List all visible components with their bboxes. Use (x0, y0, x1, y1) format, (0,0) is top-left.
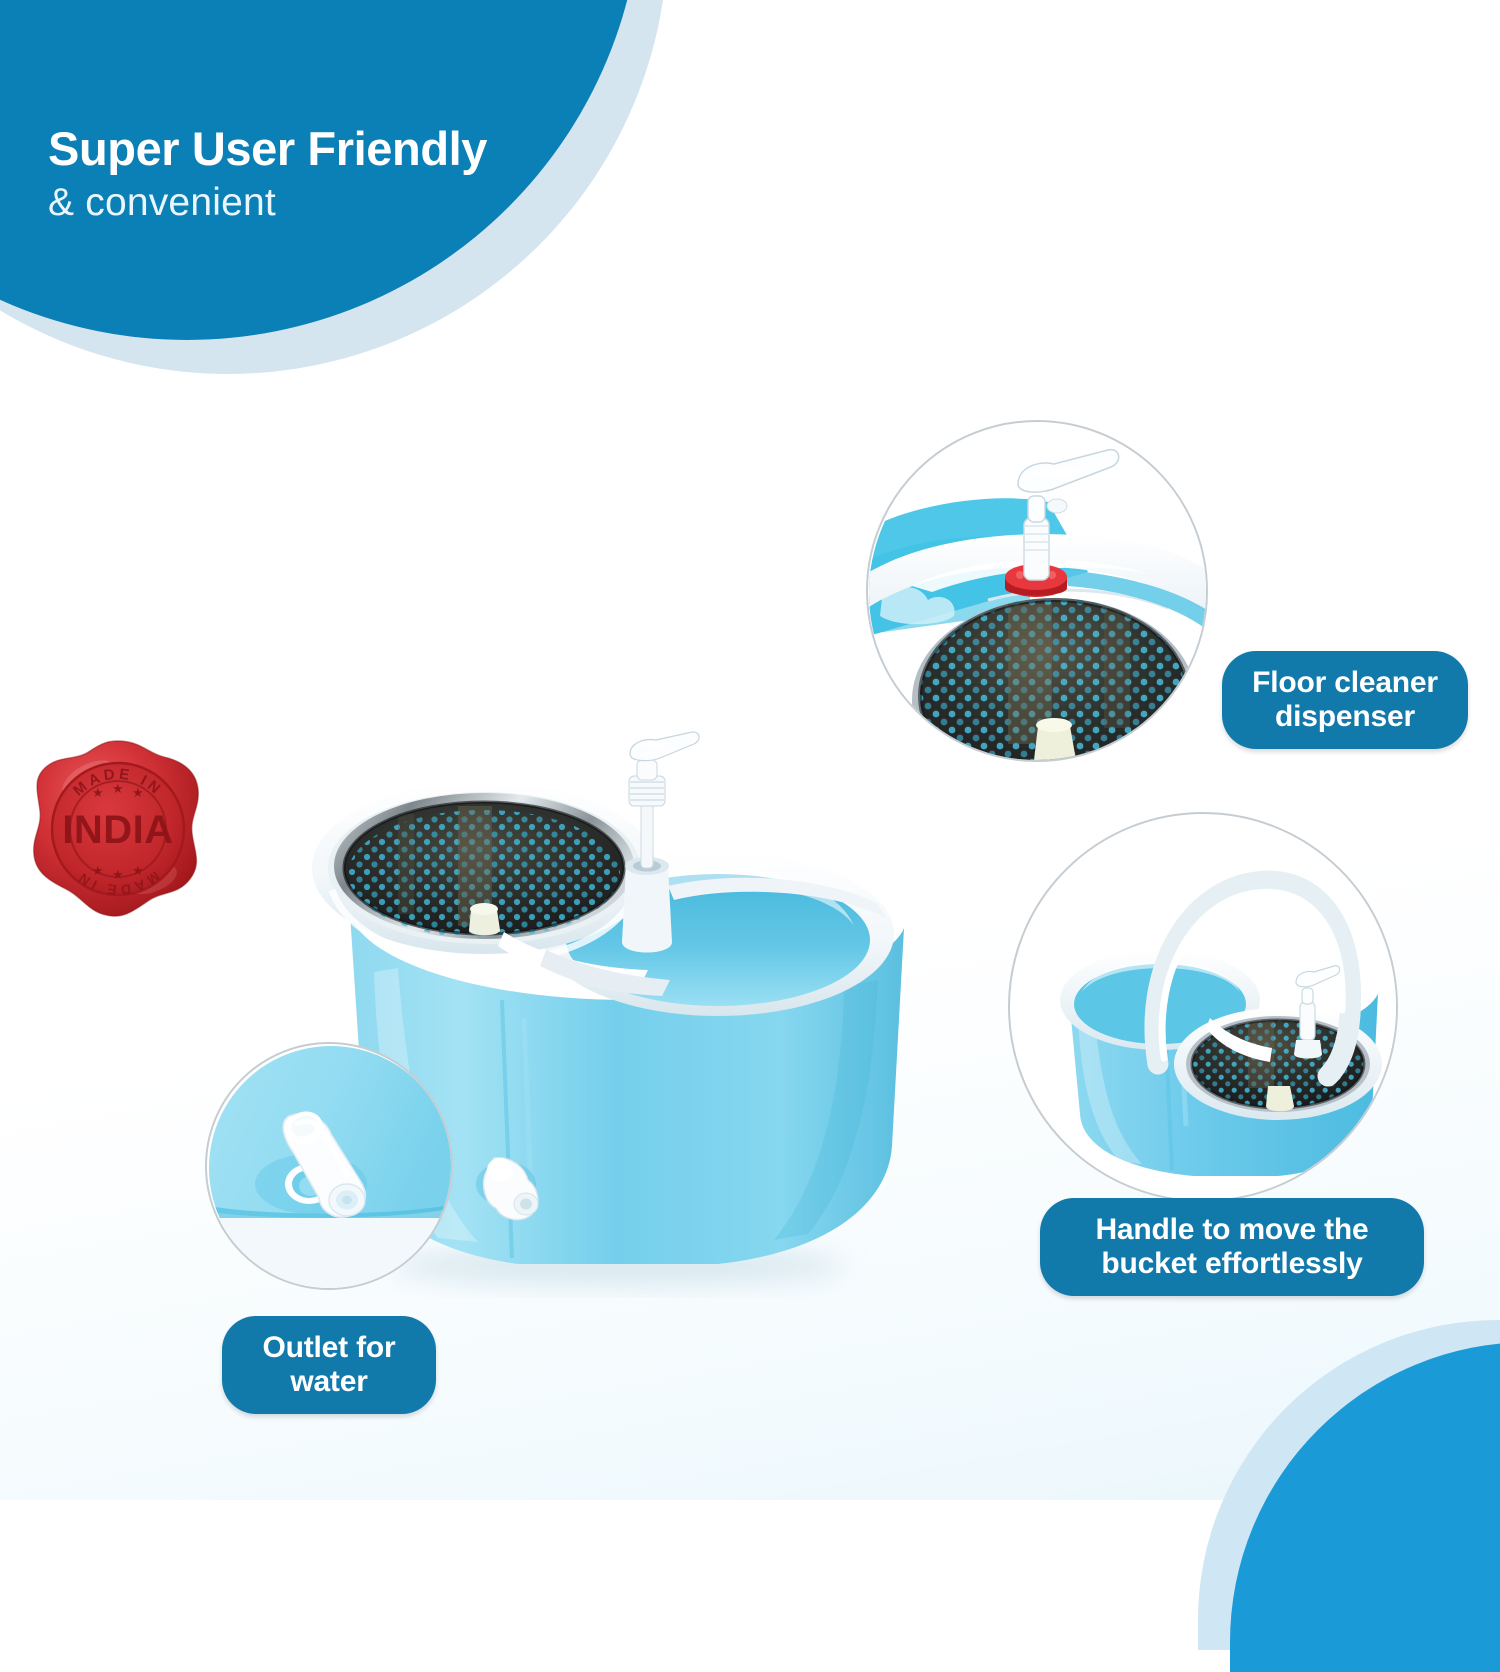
headline-primary: Super User Friendly (48, 124, 487, 174)
callout-line-2: dispenser (1248, 700, 1442, 734)
svg-text:★: ★ (112, 867, 124, 882)
made-in-india-seal: MADE IN MADE IN ★ ★ ★ ★ ★ ★ INDIA (26, 735, 211, 925)
dispenser-closeup-illustration (868, 422, 1208, 762)
detail-view-water-outlet (205, 1042, 453, 1290)
svg-text:★: ★ (92, 785, 104, 800)
detail-view-carry-handle (1008, 812, 1398, 1202)
svg-text:★: ★ (132, 785, 144, 800)
callout-water-outlet: Outlet for water (222, 1316, 436, 1414)
spinner-hub-top (470, 903, 498, 915)
callout-line-1: Handle to move the (1066, 1213, 1398, 1247)
headline-secondary: & convenient (48, 179, 487, 228)
outlet-closeup-illustration (207, 1044, 453, 1290)
wax-seal-icon: MADE IN MADE IN ★ ★ ★ ★ ★ ★ INDIA (26, 735, 211, 925)
page-title: Super User Friendly & convenient (48, 124, 487, 228)
callout-line-2: bucket effortlessly (1066, 1247, 1398, 1281)
callout-line-2: water (248, 1365, 410, 1399)
handle-closeup-illustration (1010, 814, 1398, 1202)
callout-line-1: Outlet for (248, 1331, 410, 1365)
callout-carry-handle: Handle to move the bucket effortlessly (1040, 1198, 1424, 1296)
seal-center-text: INDIA (62, 808, 173, 852)
callout-floor-cleaner-dispenser: Floor cleaner dispenser (1222, 651, 1468, 749)
svg-text:★: ★ (132, 863, 144, 878)
svg-text:★: ★ (112, 781, 124, 796)
dispenser-collar (622, 866, 672, 953)
svg-text:★: ★ (92, 863, 104, 878)
callout-line-1: Floor cleaner (1248, 666, 1442, 700)
spinner-hub (1266, 1086, 1294, 1111)
detail-view-floor-cleaner-dispenser (866, 420, 1208, 762)
